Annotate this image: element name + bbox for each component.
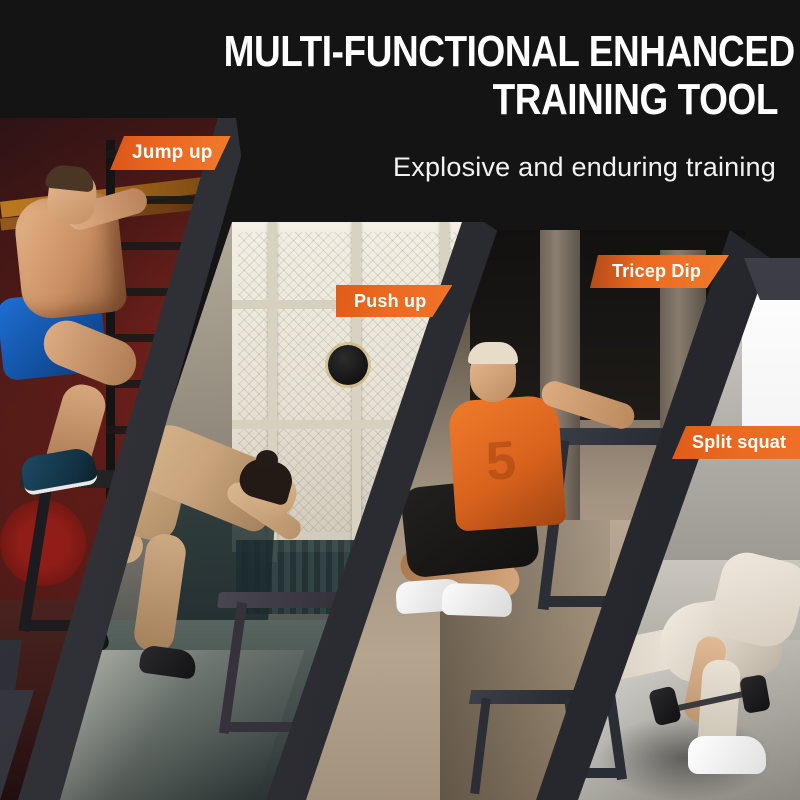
badge-tricep-dip: Tricep Dip: [590, 255, 729, 288]
badge-tricep-dip-label: Tricep Dip: [612, 261, 701, 282]
man-hair: [468, 342, 518, 364]
plyo-box-leg-left: [470, 698, 491, 794]
wall-clock: [328, 345, 368, 385]
badge-split-squat-label: Split squat: [692, 432, 786, 453]
badge-push-up: Push up: [336, 285, 452, 317]
man-shoe-right: [441, 583, 512, 617]
jersey-number: 5: [484, 429, 518, 493]
plyo-box-leg-left: [219, 602, 247, 734]
window-mullion-2: [352, 222, 361, 562]
badge-push-up-label: Push up: [354, 291, 426, 312]
woman-hair-bun: [256, 450, 278, 470]
athlete-hair: [45, 164, 95, 193]
badge-jump-up: Jump up: [110, 136, 231, 170]
badge-split-squat: Split squat: [672, 426, 800, 459]
product-banner: 5: [0, 0, 800, 800]
woman-front-shoe: [688, 736, 766, 774]
plyo-box-leg-left: [18, 482, 52, 632]
badge-jump-up-label: Jump up: [132, 142, 213, 164]
